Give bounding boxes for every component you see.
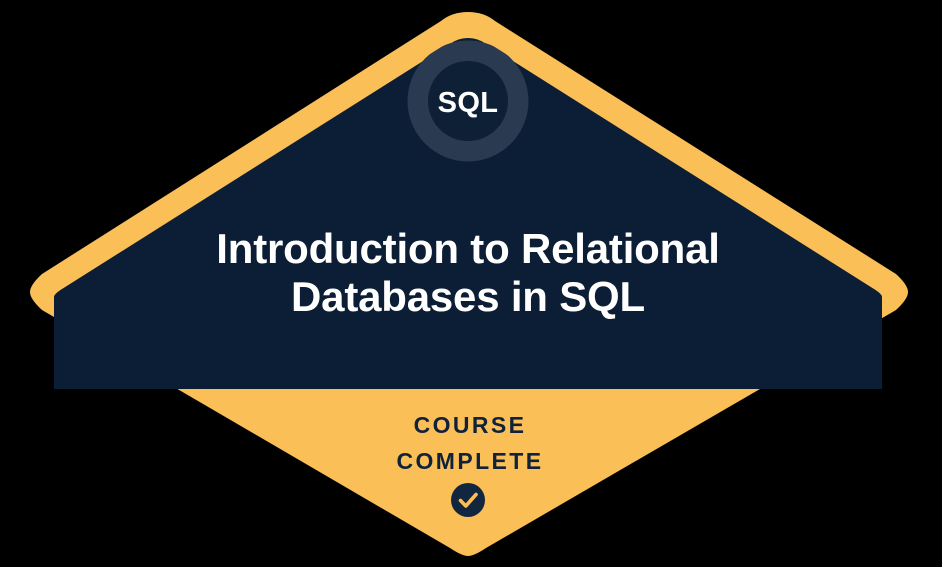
sql-tag-label: SQL <box>438 87 499 119</box>
badge-canvas: SQL Introduction to Relational Databases… <box>0 0 942 567</box>
check-badge-circle <box>451 483 485 517</box>
status-label-line-2: COMPLETE <box>397 448 544 474</box>
course-completion-badge[interactable]: SQL Introduction to Relational Databases… <box>0 0 942 567</box>
course-title-line-2: Databases in SQL <box>291 273 645 320</box>
course-title-line-1: Introduction to Relational <box>216 225 719 272</box>
status-label-line-1: COURSE <box>414 412 527 438</box>
completion-check-badge <box>451 483 485 517</box>
